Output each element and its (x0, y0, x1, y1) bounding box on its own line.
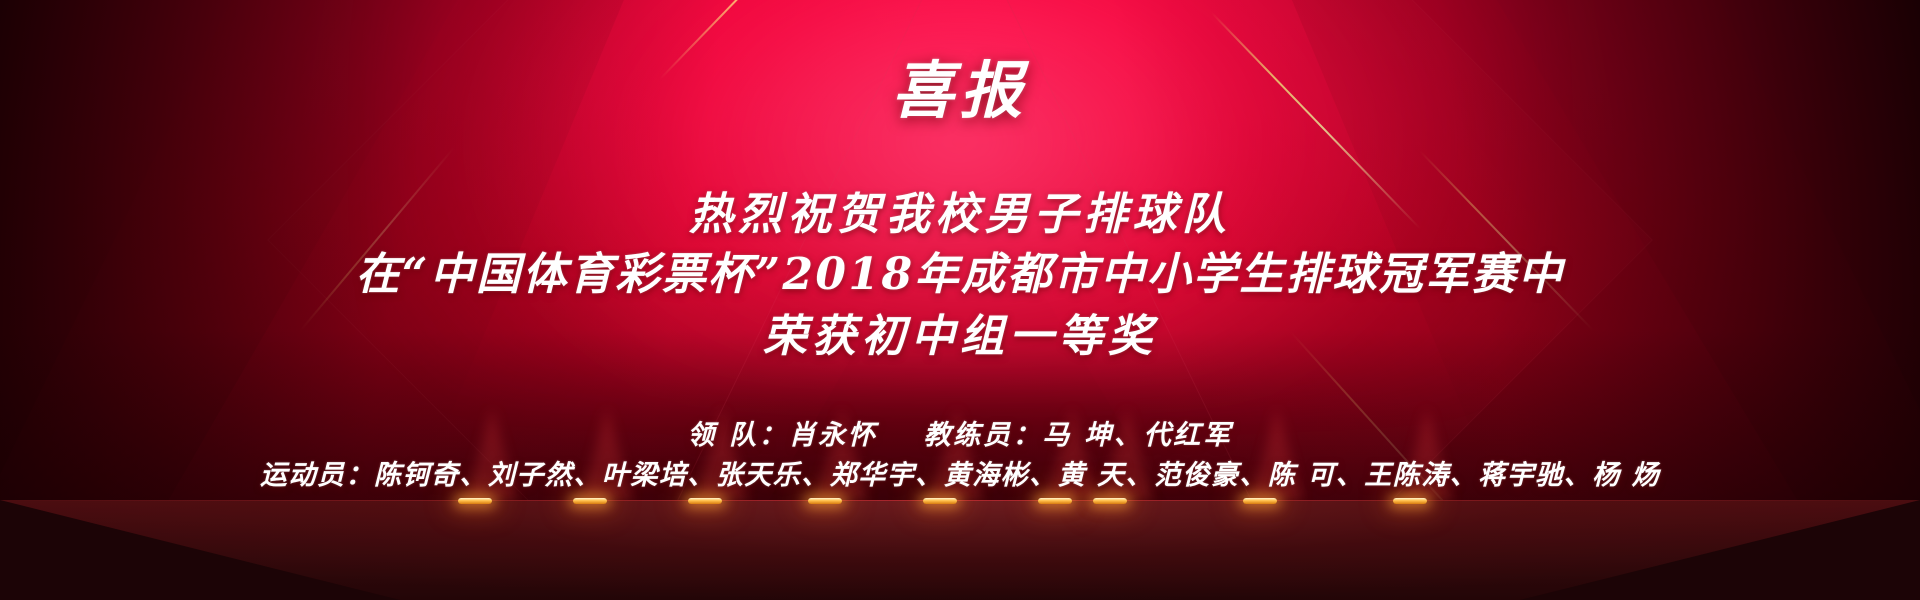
athletes-label: 运动员： (260, 460, 374, 491)
wall-base-light (1093, 498, 1127, 504)
floor-corner-left (0, 500, 400, 600)
celebration-banner: 喜报 热烈祝贺我校男子排球队 在“中国体育彩票杯”2018年成都市中小学生排球冠… (0, 0, 1920, 600)
coach-names: 马 坤、代红军 (1042, 420, 1232, 451)
athletes-names: 陈钶奇、刘子然、叶梁培、张天乐、郑华宇、黄海彬、黄 天、范俊豪、陈 可、王陈涛、… (374, 460, 1660, 491)
congratulation-line-3: 荣获初中组一等奖 (0, 300, 1920, 364)
leader-name: 肖永怀 (788, 420, 877, 451)
floor-corner-right (1520, 500, 1920, 600)
wall-base-light (1038, 498, 1072, 504)
leader-label: 领 队： (687, 420, 788, 451)
wall-base-light (1393, 498, 1427, 504)
page-title: 喜报 (0, 40, 1920, 130)
congratulation-line-1: 热烈祝贺我校男子排球队 (0, 178, 1920, 242)
wall-base-light (923, 498, 957, 504)
credits-staff-line: 领 队：肖永怀教练员：马 坤、代红军 (0, 413, 1920, 452)
wall-base-light (573, 498, 607, 504)
credits-athletes-line: 运动员：陈钶奇、刘子然、叶梁培、张天乐、郑华宇、黄海彬、黄 天、范俊豪、陈 可、… (0, 453, 1920, 492)
coach-label: 教练员： (924, 420, 1043, 451)
wall-base-light (1243, 498, 1277, 504)
congratulation-line-2: 在“中国体育彩票杯”2018年成都市中小学生排球冠军赛中 (0, 238, 1920, 302)
wall-base-light (688, 498, 722, 504)
wall-base-light (458, 498, 492, 504)
wall-base-light (808, 498, 842, 504)
